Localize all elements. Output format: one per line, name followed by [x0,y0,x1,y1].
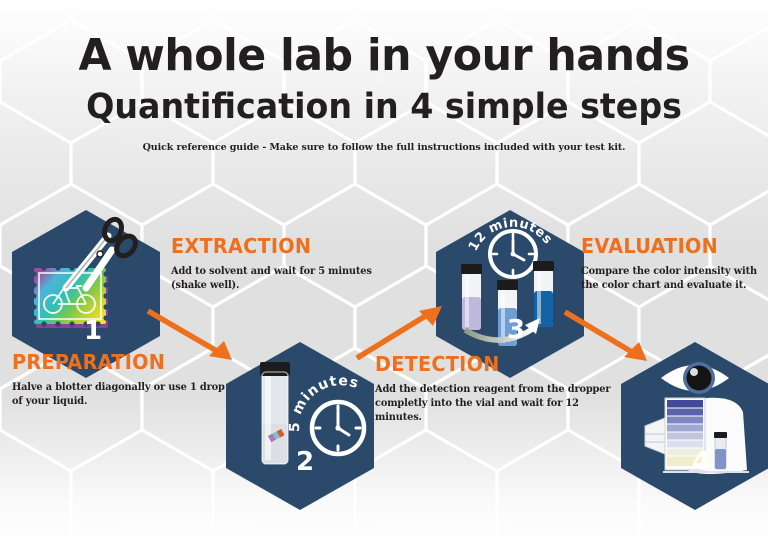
step-body-detection: Add the detection reagent from the dropp… [375,383,620,426]
step-heading-extraction: EXTRACTION [171,234,377,258]
step-body-evaluation: Compare the color intensity with the col… [581,265,768,293]
step-heading-preparation: PREPARATION [12,350,223,374]
step-text-detection: DETECTION Add the detection reagent from… [375,352,620,426]
infographic-canvas: A whole lab in your hands Quantification… [0,0,768,549]
step-text-evaluation: EVALUATION Compare the color intensity w… [581,234,768,293]
step-body-preparation: Halve a blotter diagonally or use 1 drop… [12,381,232,409]
step-body-extraction: Add to solvent and wait for 5 minutes (s… [171,265,386,293]
step-text-extraction: EXTRACTION Add to solvent and wait for 5… [171,234,386,293]
step-heading-detection: DETECTION [375,352,610,376]
step-text-preparation: PREPARATION Halve a blotter diagonally o… [12,350,232,409]
step-heading-evaluation: EVALUATION [581,234,763,258]
